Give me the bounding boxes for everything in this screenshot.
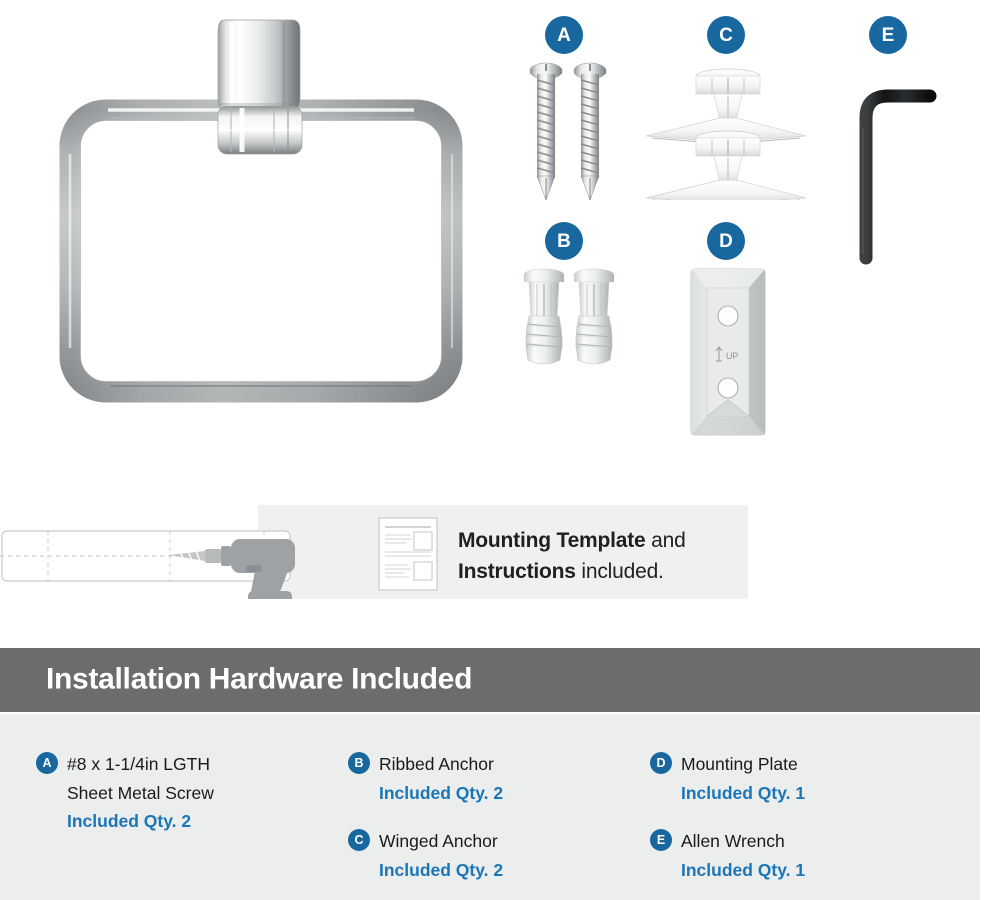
power-drill — [231, 539, 295, 599]
hardware-name-e: Allen Wrench — [681, 827, 805, 856]
screw-1 — [530, 63, 562, 200]
product-hardware-infographic: UP A B C D E — [0, 0, 990, 900]
hardware-item-e: E Allen Wrench Included Qty. 1 — [650, 827, 805, 884]
callout-badge-d: D — [707, 222, 745, 260]
hardware-list-panel: A #8 x 1-1/4in LGTH Sheet Metal Screw In… — [0, 714, 980, 900]
hardware-qty-a: Included Qty. 2 — [67, 807, 214, 836]
hardware-name-d: Mounting Plate — [681, 750, 805, 779]
hardware-qty-c: Included Qty. 2 — [379, 856, 503, 885]
ribbed-anchor-1 — [524, 269, 564, 364]
hardware-badge-c: C — [348, 829, 370, 851]
hardware-qty-b: Included Qty. 2 — [379, 779, 503, 808]
hardware-badge-a: A — [36, 752, 58, 774]
hardware-badge-e: E — [650, 829, 672, 851]
hardware-name-c: Winged Anchor — [379, 827, 503, 856]
hardware-item-c: C Winged Anchor Included Qty. 2 — [348, 827, 503, 884]
part-mounting-plate-image: UP — [688, 266, 768, 438]
screw-2 — [574, 63, 606, 200]
hardware-header-title: Installation Hardware Included — [46, 662, 472, 696]
mounting-template-text: Mounting Template and Instructions inclu… — [458, 526, 758, 588]
ribbed-anchor-2 — [574, 269, 614, 364]
winged-anchor-2 — [646, 131, 806, 200]
mounting-template-bold-1: Mounting Template — [458, 529, 646, 552]
callout-badge-b: B — [545, 222, 583, 260]
hardware-item-b: B Ribbed Anchor Included Qty. 2 — [348, 750, 503, 807]
hardware-qty-e: Included Qty. 1 — [681, 856, 805, 885]
mounting-template-line-2: Instructions included. — [458, 557, 758, 588]
mounting-template-rest-2: included. — [576, 560, 664, 583]
hardware-name-b: Ribbed Anchor — [379, 750, 503, 779]
callout-badge-a: A — [545, 16, 583, 54]
mounting-template-bold-2: Instructions — [458, 560, 576, 583]
part-ribbed-anchors-image — [520, 266, 620, 384]
towel-ring-product-image — [52, 14, 492, 414]
mounting-template-line-1: Mounting Template and — [458, 526, 758, 557]
mounting-template-rest-1: and — [646, 529, 686, 552]
hardware-qty-d: Included Qty. 1 — [681, 779, 805, 808]
callout-badge-e: E — [869, 16, 907, 54]
hardware-item-d: D Mounting Plate Included Qty. 1 — [650, 750, 805, 807]
hardware-name-a-line1: #8 x 1-1/4in LGTH — [67, 750, 214, 779]
hardware-header-bar: Installation Hardware Included — [0, 648, 980, 712]
ring-collar — [218, 106, 302, 154]
hardware-name-a-line2: Sheet Metal Screw — [67, 779, 214, 808]
hardware-item-a: A #8 x 1-1/4in LGTH Sheet Metal Screw In… — [36, 750, 214, 836]
part-winged-anchors-image — [640, 60, 816, 200]
instructions-document — [379, 518, 437, 590]
ring-wall-post — [218, 20, 300, 112]
mounting-plate-up-text: UP — [726, 351, 739, 361]
part-allen-wrench-image — [846, 58, 956, 268]
hardware-badge-d: D — [650, 752, 672, 774]
hardware-badge-b: B — [348, 752, 370, 774]
callout-badge-c: C — [707, 16, 745, 54]
drill-template-illustration — [0, 505, 470, 599]
part-screws-image — [524, 58, 616, 204]
